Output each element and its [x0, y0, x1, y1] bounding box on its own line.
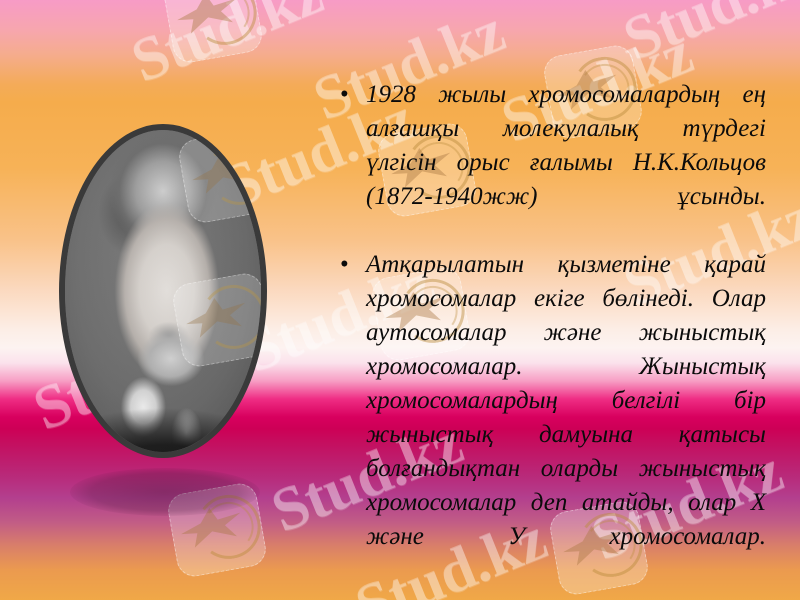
bullet-marker-icon: • [332, 248, 366, 282]
stud-kz-bird-logo-icon [170, 271, 267, 369]
bullet-item: • 1928 жылы хромосомалардың ең алғашқы м… [332, 78, 766, 248]
bullet-item: • Атқарылатын қызметіне қарай хромосомал… [332, 248, 766, 588]
bullet-paragraph: Атқарылатын қызметіне қарай хромосомалар… [366, 248, 766, 588]
portrait-image [59, 124, 267, 458]
presentation-slide: Stud.kz Stud.kz Stud.kz Stud.kz Stud.kz … [0, 0, 800, 600]
bullet-marker-icon: • [332, 78, 366, 112]
bullet-paragraph: 1928 жылы хромосомалардың ең алғашқы мол… [366, 78, 766, 248]
slide-body-text: • 1928 жылы хромосомалардың ең алғашқы м… [332, 78, 766, 588]
stud-kz-bird-logo-icon [176, 127, 267, 225]
